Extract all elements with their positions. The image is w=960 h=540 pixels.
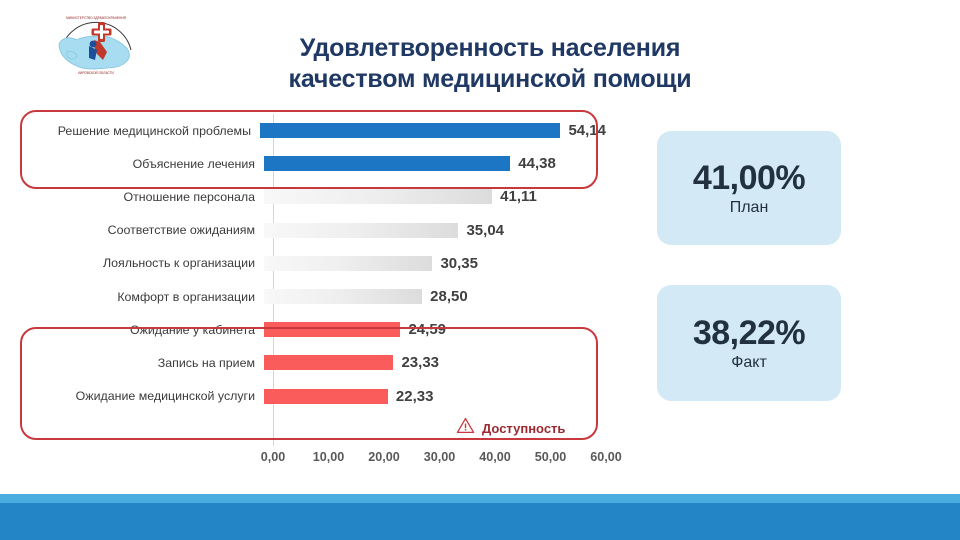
bar-row: Ожидание медицинской услуги22,33: [16, 380, 606, 413]
kpi-card-fact: 38,22% Факт: [657, 285, 841, 401]
slide: МИНИСТЕРСТВО ЗДРАВООХРАНЕНИЯ КИРОВСКОЙ О…: [0, 0, 960, 540]
x-tick-label: 0,00: [261, 450, 286, 464]
x-tick-label: 50,00: [535, 450, 567, 464]
bar-blue: [264, 156, 510, 171]
ministry-health-logo: МИНИСТЕРСТВО ЗДРАВООХРАНЕНИЯ КИРОВСКОЙ О…: [53, 6, 139, 80]
bar-row: Соответствие ожиданиям35,04: [16, 214, 606, 247]
x-tick-label: 60,00: [590, 450, 622, 464]
x-tick-label: 20,00: [368, 450, 400, 464]
bar-value-label: 22,33: [396, 388, 434, 405]
title-line-2: качеством медицинской помощи: [180, 64, 800, 95]
bar-zone: 54,14: [260, 114, 606, 147]
bar-zone: 30,35: [264, 247, 606, 280]
kpi-card-plan: 41,00% План: [657, 131, 841, 245]
x-axis-ticks: 0,0010,0020,0030,0040,0050,0060,00: [264, 450, 606, 472]
x-tick-label: 10,00: [313, 450, 345, 464]
bar-value-label: 28,50: [430, 288, 468, 305]
bar-red: [264, 322, 400, 337]
bar-value-label: 54,14: [568, 122, 606, 139]
bar-category-label: Соответствие ожиданиям: [16, 223, 264, 237]
bar-category-label: Запись на прием: [16, 356, 264, 370]
bar-category-label: Комфорт в организации: [16, 290, 264, 304]
availability-legend: Доступность: [456, 417, 565, 439]
bar-row: Запись на прием23,33: [16, 346, 606, 379]
kpi-fact-value: 38,22%: [693, 314, 805, 352]
bar-value-label: 44,38: [518, 155, 556, 172]
svg-text:КИРОВСКОЙ ОБЛАСТИ: КИРОВСКОЙ ОБЛАСТИ: [78, 71, 114, 75]
bar-zone: 44,38: [264, 147, 606, 180]
bar-value-label: 24,59: [408, 321, 446, 338]
bar-category-label: Ожидание у кабинета: [16, 323, 264, 337]
bar-category-label: Ожидание медицинской услуги: [16, 389, 264, 403]
bar-row: Комфорт в организации28,50: [16, 280, 606, 313]
bar-grey: [264, 289, 422, 304]
bar-red: [264, 355, 393, 370]
bar-category-label: Лояльность к организации: [16, 256, 264, 270]
bar-grey: [264, 223, 458, 238]
bar-grey: [264, 256, 432, 271]
bar-value-label: 23,33: [401, 354, 439, 371]
bar-row: Решение медицинской проблемы54,14: [16, 114, 606, 147]
footer-band: [0, 503, 960, 540]
bar-category-label: Отношение персонала: [16, 190, 264, 204]
bar-value-label: 35,04: [466, 222, 504, 239]
bar-grey: [264, 189, 492, 204]
title-line-1: Удовлетворенность населения: [180, 33, 800, 64]
x-tick-label: 40,00: [479, 450, 511, 464]
footer-accent-stripe: [0, 494, 960, 503]
bar-zone: 41,11: [264, 180, 606, 213]
bar-zone: 28,50: [264, 280, 606, 313]
bar-category-label: Объяснение лечения: [16, 157, 264, 171]
bar-red: [264, 389, 388, 404]
bar-value-label: 41,11: [500, 188, 537, 205]
warning-triangle-icon: [456, 417, 475, 439]
kpi-plan-label: План: [730, 198, 769, 218]
kpi-plan-value: 41,00%: [693, 159, 805, 197]
x-tick-label: 30,00: [424, 450, 456, 464]
bar-row: Объяснение лечения44,38: [16, 147, 606, 180]
bar-zone: 23,33: [264, 346, 606, 379]
bar-zone: 24,59: [264, 313, 606, 346]
bar-row: Отношение персонала41,11: [16, 180, 606, 213]
bar-zone: 22,33: [264, 380, 606, 413]
bar-row: Ожидание у кабинета24,59: [16, 313, 606, 346]
bar-blue: [260, 123, 560, 138]
bar-rows: Решение медицинской проблемы54,14Объясне…: [16, 114, 606, 413]
kpi-fact-label: Факт: [731, 353, 767, 373]
bar-zone: 35,04: [264, 214, 606, 247]
bar-row: Лояльность к организации30,35: [16, 247, 606, 280]
bar-value-label: 30,35: [440, 255, 478, 272]
svg-text:МИНИСТЕРСТВО ЗДРАВООХРАНЕНИЯ: МИНИСТЕРСТВО ЗДРАВООХРАНЕНИЯ: [66, 16, 127, 20]
availability-label: Доступность: [482, 421, 565, 436]
page-title: Удовлетворенность населения качеством ме…: [180, 33, 800, 95]
bar-category-label: Решение медицинской проблемы: [16, 124, 260, 138]
